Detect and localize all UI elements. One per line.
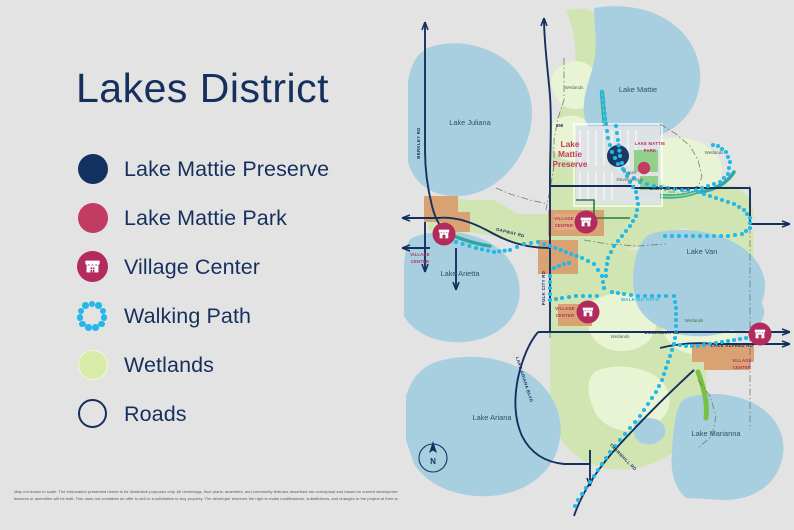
legend-item-wetlands[interactable]: Wetlands (76, 341, 396, 389)
wetlands-label: Wetlands (565, 85, 584, 90)
svg-text:CENTER: CENTER (555, 223, 573, 228)
legend-item-lake-mattie-preserve[interactable]: Lake Mattie Preserve (76, 145, 396, 193)
legend-item-label: Roads (124, 402, 187, 427)
svg-text:VILLAGE: VILLAGE (410, 252, 430, 257)
legend-list: Lake Mattie Preserve Lake Mattie Park (76, 145, 396, 439)
wetlands-label: Wetlands (685, 318, 704, 323)
legend-item-roads[interactable]: Roads (76, 390, 396, 438)
svg-text:VILLAGE: VILLAGE (555, 306, 575, 311)
map-illustration[interactable]: Lake Mattie Lake Juliana Lake Van Lake A… (398, 0, 794, 530)
preserve-label-line: Lake (561, 139, 580, 149)
svg-text:N: N (430, 457, 436, 466)
lake-label: Lake Van (687, 247, 718, 256)
svg-text:CENTER: CENTER (733, 365, 751, 370)
park-label-line: LAKE MATTIE (635, 141, 666, 146)
road-label: BOLENDER RD (644, 330, 679, 335)
lake-label: Lake Arietta (440, 269, 480, 278)
green-circle-icon (76, 348, 110, 382)
lake-mattie-park-marker (638, 162, 650, 174)
legend-item-label: Village Center (124, 255, 260, 280)
preserve-label-line: Mattie (558, 149, 582, 159)
highway-marker-label: 559 (556, 123, 564, 128)
legend-item-label: Wetlands (124, 353, 214, 378)
legend-item-label: Lake Mattie Park (124, 206, 287, 231)
future-development-label-line: Development (616, 177, 644, 182)
page-title: Lakes District (76, 65, 329, 112)
wetlands-label: Wetlands (611, 334, 630, 339)
village-store-icon (76, 250, 110, 284)
lake-label: Lake Mattie (619, 85, 657, 94)
road-label: LAKE ALFRED RD (711, 343, 753, 348)
legend-item-label: Lake Mattie Preserve (124, 157, 329, 182)
legend-panel: Lakes District Lake Mattie Preserve Lake… (0, 0, 400, 485)
dotted-ring-icon (76, 299, 110, 333)
svg-text:VILLAGE: VILLAGE (554, 216, 574, 221)
future-development-label-line: Future (623, 170, 637, 175)
legend-item-label: Walking Path (124, 304, 251, 329)
park-label-line: PARK (644, 148, 657, 153)
navy-circle-icon (76, 152, 110, 186)
legend-item-walking-path[interactable]: Walking Path (76, 292, 396, 340)
preserve-label-line: Preserve (552, 159, 587, 169)
lake-label: Lake Ariana (472, 413, 512, 422)
svg-text:VILLAGE: VILLAGE (732, 358, 752, 363)
legend-item-lake-mattie-park[interactable]: Lake Mattie Park (76, 194, 396, 242)
svg-text:CENTER: CENTER (411, 259, 429, 264)
wetlands-label: Wetlands (705, 150, 724, 155)
svg-text:CENTER: CENTER (556, 313, 574, 318)
pink-circle-icon (76, 201, 110, 235)
legend-item-village-center[interactable]: Village Center (76, 243, 396, 291)
road-label: POLK CITY RD (541, 271, 546, 305)
walking-path-label: WALKING PATH (621, 297, 659, 302)
road-label: LAKE MATTIE RD (650, 186, 691, 191)
lake-label: Lake Marianna (692, 429, 742, 438)
lakes-district-map-page: Lakes District Lake Mattie Preserve Lake… (0, 0, 794, 530)
road-label: BERKLEY RD (416, 127, 421, 158)
lake-label: Lake Juliana (449, 118, 491, 127)
outline-circle-icon (76, 397, 110, 431)
